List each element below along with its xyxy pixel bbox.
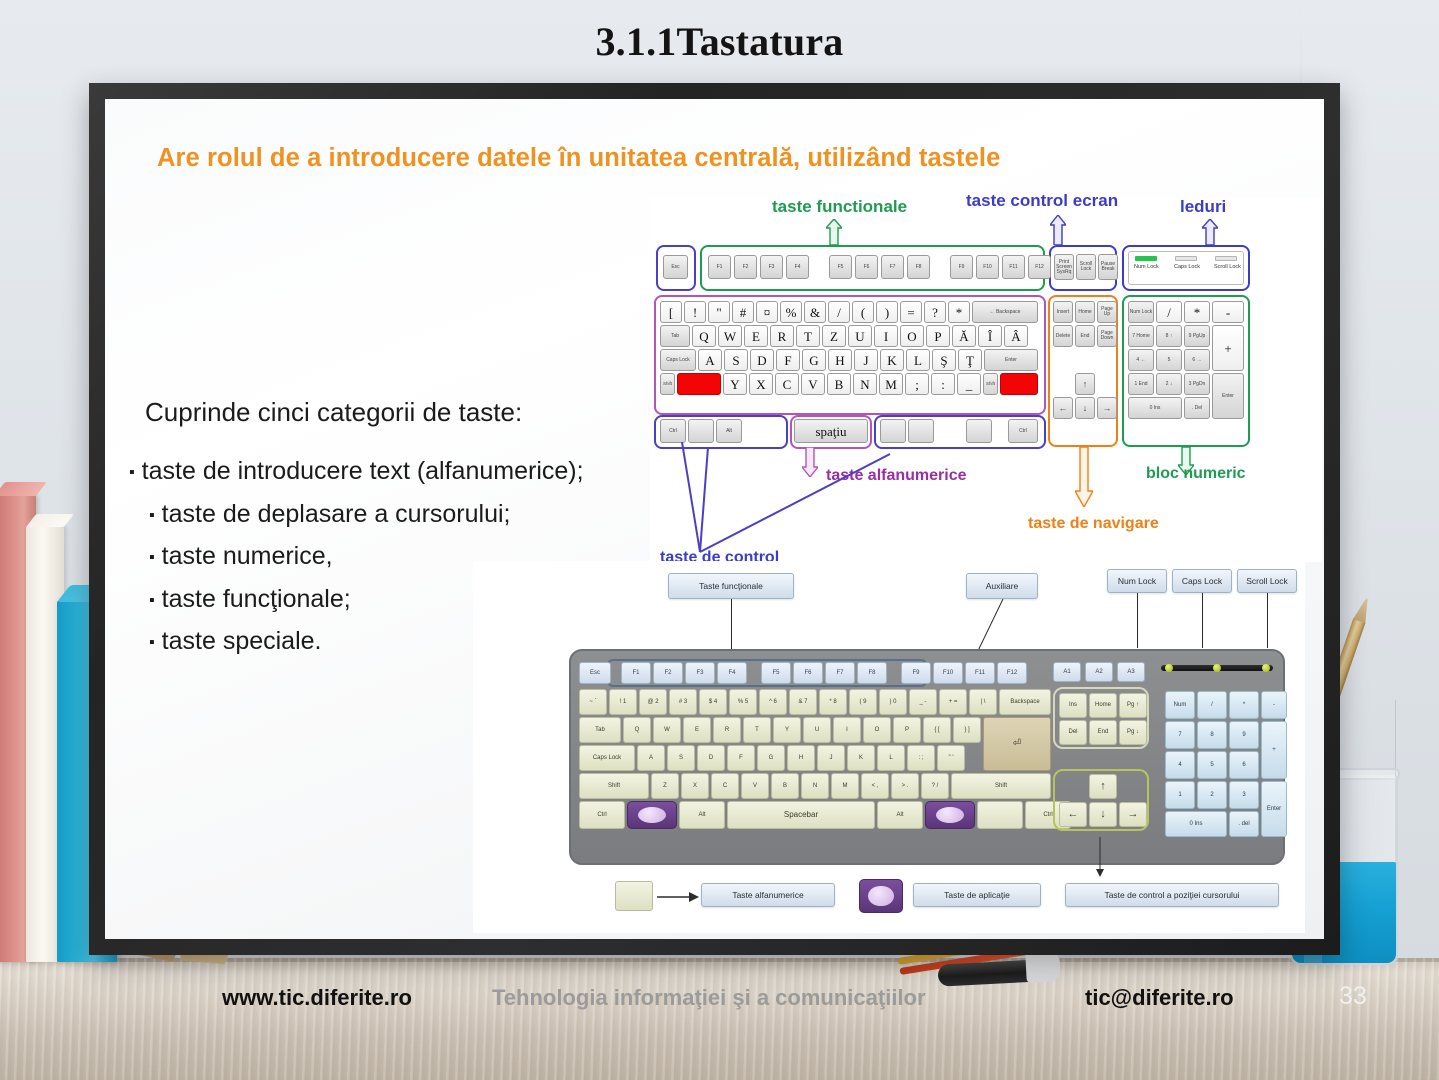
key-z[interactable]: Z xyxy=(822,325,846,347)
key-backslash[interactable]: | \ xyxy=(969,689,997,715)
key-l[interactable]: L xyxy=(906,349,930,371)
key-c[interactable]: C xyxy=(711,773,739,799)
key-f5[interactable]: F5 xyxy=(829,255,852,279)
lead-text: Cuprinde cinci categorii de taste: xyxy=(145,397,522,428)
list-item-label: taste de introducere text (alfanumerice)… xyxy=(142,457,584,485)
key-a-breve[interactable]: Ă xyxy=(952,325,976,347)
arrow-up-icon xyxy=(1050,215,1066,245)
key-alt-left[interactable]: Alt xyxy=(679,801,725,829)
key-minus[interactable]: _ - xyxy=(909,689,937,715)
key-arrow-right[interactable]: → xyxy=(1119,802,1147,827)
key-e[interactable]: E xyxy=(683,717,711,743)
key-2[interactable]: @ 2 xyxy=(639,689,667,715)
key-f2[interactable]: F2 xyxy=(734,255,757,279)
bullet-marker-icon: ▪ xyxy=(129,464,135,481)
key-num-7[interactable]: 7 xyxy=(1165,721,1195,749)
key-num-4[interactable]: 4 ← xyxy=(1128,349,1154,371)
key-semicolon[interactable]: : ; xyxy=(907,745,935,771)
key-caps-lock[interactable]: Caps Lock xyxy=(660,349,696,371)
key-shift-left[interactable]: Shift xyxy=(660,373,675,395)
key-num-decimal[interactable]: . Del xyxy=(1184,397,1210,419)
control-leader-lines xyxy=(650,442,1010,562)
arrow-up-icon xyxy=(826,219,842,245)
key-0[interactable]: ) 0 xyxy=(879,689,907,715)
key-6[interactable]: ^ 6 xyxy=(759,689,787,715)
key-caps-lock[interactable]: Caps Lock xyxy=(579,745,635,771)
key-w[interactable]: W xyxy=(718,325,742,347)
key-w[interactable]: W xyxy=(653,717,681,743)
key-f8[interactable]: F8 xyxy=(857,662,887,684)
key-9[interactable]: ( 9 xyxy=(849,689,877,715)
leader-line-cursor-control xyxy=(1095,837,1105,877)
key-d[interactable]: D xyxy=(750,349,774,371)
key-g[interactable]: G xyxy=(802,349,826,371)
list-item-label: taste speciale. xyxy=(162,627,322,655)
key-z[interactable]: Z xyxy=(651,773,679,799)
key-b[interactable]: B xyxy=(827,373,851,395)
arrow-up-icon xyxy=(1202,219,1218,245)
key-h[interactable]: H xyxy=(787,745,815,771)
key-x[interactable]: X xyxy=(681,773,709,799)
bullet-marker-icon: ▪ xyxy=(149,549,155,566)
key-s[interactable]: S xyxy=(667,745,695,771)
key-colon[interactable]: : xyxy=(931,373,955,395)
key-arrow-down[interactable]: ↓ xyxy=(1075,397,1095,419)
key-num-9[interactable]: 9 PgUp xyxy=(1184,325,1210,347)
key-comma[interactable]: < , xyxy=(861,773,889,799)
key-f6[interactable]: F6 xyxy=(855,255,878,279)
key-f12[interactable]: F12 xyxy=(1028,255,1051,279)
key-alt-right[interactable] xyxy=(880,419,906,443)
key-j[interactable]: J xyxy=(854,349,878,371)
key-a3[interactable]: A3 xyxy=(1117,662,1145,682)
key-space[interactable]: spaţiu xyxy=(794,419,868,443)
key-f7[interactable]: F7 xyxy=(881,255,904,279)
legend-label-alphanumeric[interactable]: Taste alfanumerice xyxy=(701,883,835,907)
bullet-marker-icon: ▪ xyxy=(149,634,155,651)
key-o[interactable]: O xyxy=(900,325,924,347)
led-label-num-lock: Num Lock xyxy=(1134,264,1168,271)
key-arrow-up[interactable]: ↑ xyxy=(1089,774,1117,799)
key-f3[interactable]: F3 xyxy=(760,255,783,279)
key-percent[interactable]: % xyxy=(780,301,802,323)
key-arrow-left[interactable]: ← xyxy=(1059,802,1087,827)
key-7[interactable]: & 7 xyxy=(789,689,817,715)
key-4[interactable]: $ 4 xyxy=(699,689,727,715)
key-n[interactable]: N xyxy=(853,373,877,395)
key-num-8[interactable]: 8 xyxy=(1197,721,1227,749)
key-t-comma[interactable]: Ţ xyxy=(958,349,982,371)
callout-caps-lock[interactable]: Caps Lock xyxy=(1172,569,1232,593)
key-f3[interactable]: F3 xyxy=(685,662,715,684)
key-home[interactable]: Home xyxy=(1075,301,1095,323)
key-bracket-close[interactable]: } ] xyxy=(953,717,981,743)
list-item: ▪taste de introducere text (alfanumerice… xyxy=(123,457,643,486)
bullet-marker-icon: ▪ xyxy=(149,592,155,609)
list-item-label: taste de deplasare a cursorului; xyxy=(162,500,511,528)
led-num-lock-indicator xyxy=(1165,664,1173,672)
key-win-left[interactable] xyxy=(688,419,714,443)
key-period[interactable]: > . xyxy=(891,773,919,799)
key-f10[interactable]: F10 xyxy=(933,662,963,684)
key-f4[interactable]: F4 xyxy=(786,255,809,279)
led-scroll-lock-indicator xyxy=(1262,664,1270,672)
key-page-down[interactable]: Pg ↓ xyxy=(1119,720,1147,745)
key-num-1[interactable]: 1 xyxy=(1165,781,1195,809)
page-title: 3.1.1Tastatura xyxy=(0,18,1439,65)
led-label-caps-lock: Caps Lock xyxy=(1174,264,1208,271)
key-shift-right[interactable]: Shift xyxy=(951,773,1051,799)
key-g[interactable]: G xyxy=(757,745,785,771)
key-num-0[interactable]: 0 Ins xyxy=(1128,397,1182,419)
label-taste-de-navigare: taste de navigare xyxy=(1028,515,1159,533)
key-page-down[interactable]: Page Down xyxy=(1097,325,1117,347)
key-ctrl-left[interactable]: Ctrl xyxy=(660,419,686,443)
key-menu[interactable] xyxy=(966,419,992,443)
led-label-scroll-lock: Scroll Lock xyxy=(1214,264,1244,271)
key-slash[interactable]: ? / xyxy=(921,773,949,799)
key-num-enter[interactable]: Enter xyxy=(1212,373,1244,419)
key-m[interactable]: M xyxy=(879,373,903,395)
footer-email[interactable]: tic@diferite.ro xyxy=(1085,985,1234,1011)
key-menu-key[interactable] xyxy=(977,801,1023,829)
list-item: ▪taste de deplasare a cursorului; xyxy=(123,500,643,529)
key-f9[interactable]: F9 xyxy=(901,662,931,684)
key-equals[interactable]: = xyxy=(900,301,922,323)
key-r[interactable]: R xyxy=(713,717,741,743)
key-numlock[interactable]: Num Lock xyxy=(1128,301,1154,323)
leader-line xyxy=(1202,593,1203,648)
key-home[interactable]: Home xyxy=(1089,693,1117,718)
key-ampersand[interactable]: & xyxy=(804,301,826,323)
slide-board: Are rolul de a introducere datele în uni… xyxy=(105,99,1324,939)
key-highlight-left[interactable] xyxy=(677,373,721,395)
key-num-9[interactable]: 9 xyxy=(1229,721,1259,749)
key-num-6[interactable]: 6 xyxy=(1229,751,1259,779)
callout-num-lock[interactable]: Num Lock xyxy=(1107,569,1167,593)
key-highlight-right[interactable] xyxy=(1000,373,1038,395)
key-num-7[interactable]: 7 Home xyxy=(1128,325,1154,347)
key-n[interactable]: N xyxy=(801,773,829,799)
key-del[interactable]: Del xyxy=(1059,720,1087,745)
key-f6[interactable]: F6 xyxy=(793,662,823,684)
leader-line xyxy=(1137,593,1138,648)
key-num-multiply[interactable]: * xyxy=(1229,691,1259,719)
key-num-3[interactable]: 3 xyxy=(1229,781,1259,809)
key-shift-right[interactable]: Shift xyxy=(983,373,998,395)
footer-website[interactable]: www.tic.diferite.ro xyxy=(222,985,412,1011)
key-k[interactable]: K xyxy=(880,349,904,371)
key-num-3[interactable]: 3 PgDn xyxy=(1184,373,1210,395)
label-taste-control-ecran: taste control ecran xyxy=(966,191,1118,211)
key-f9[interactable]: F9 xyxy=(950,255,973,279)
key-1[interactable]: ! 1 xyxy=(609,689,637,715)
list-item-label: taste funcţionale; xyxy=(162,585,351,613)
key-t[interactable]: T xyxy=(796,325,820,347)
key-enter[interactable]: Enter xyxy=(984,349,1038,371)
led-caps-lock-indicator xyxy=(1213,664,1221,672)
footer: www.tic.diferite.ro Tehnologia informaţi… xyxy=(0,985,1439,1025)
key-arrow-right[interactable]: → xyxy=(1097,397,1117,419)
key-8[interactable]: * 8 xyxy=(819,689,847,715)
key-bracket[interactable]: [ xyxy=(660,301,682,323)
label-taste-functionale: taste functionale xyxy=(772,197,907,217)
key-slash[interactable]: / xyxy=(828,301,850,323)
legend-label-application[interactable]: Taste de aplicaţie xyxy=(913,883,1041,907)
key-alt-left[interactable]: Alt xyxy=(716,419,742,443)
key-h[interactable]: H xyxy=(828,349,852,371)
key-f8[interactable]: F8 xyxy=(907,255,930,279)
key-print-screen[interactable]: Print Screen SysRq xyxy=(1054,254,1074,280)
key-i[interactable]: I xyxy=(833,717,861,743)
key-tilde[interactable]: ~ ` xyxy=(579,689,607,715)
key-a1[interactable]: A1 xyxy=(1053,662,1081,682)
key-shift-left[interactable]: Shift xyxy=(579,773,649,799)
key-tab[interactable]: Tab xyxy=(579,717,621,743)
key-num-1[interactable]: 1 End xyxy=(1128,373,1154,395)
diagram-labelled-keyboard: Taste funcţionale Auxiliare Num Lock Cap… xyxy=(473,561,1305,933)
key-insert[interactable]: Insert xyxy=(1053,301,1073,323)
key-num-enter[interactable]: Enter xyxy=(1261,781,1287,837)
key-page-up[interactable]: Pg ↑ xyxy=(1119,693,1147,718)
key-s[interactable]: S xyxy=(724,349,748,371)
key-f11[interactable]: F11 xyxy=(1002,255,1025,279)
key-f5[interactable]: F5 xyxy=(761,662,791,684)
key-paren-open[interactable]: ( xyxy=(852,301,874,323)
key-a[interactable]: A xyxy=(698,349,722,371)
key-arrow-down[interactable]: ↓ xyxy=(1089,802,1117,827)
key-page-up[interactable]: Page Up xyxy=(1097,301,1117,323)
key-arrow-left[interactable]: ← xyxy=(1053,397,1073,419)
key-num-5[interactable]: 5 xyxy=(1197,751,1227,779)
key-u[interactable]: U xyxy=(803,717,831,743)
key-currency[interactable]: ¤ xyxy=(756,301,778,323)
key-underscore[interactable]: _ xyxy=(957,373,981,395)
key-spacebar[interactable]: Spacebar xyxy=(727,801,875,829)
key-j[interactable]: J xyxy=(817,745,845,771)
key-num-plus[interactable]: + xyxy=(1212,325,1244,371)
leader-line xyxy=(1267,593,1268,648)
key-p[interactable]: P xyxy=(893,717,921,743)
key-num-8[interactable]: 8 ↑ xyxy=(1156,325,1182,347)
key-num-decimal[interactable]: . del xyxy=(1229,811,1259,837)
arrow-down-icon xyxy=(1075,447,1093,507)
key-num-divide[interactable]: / xyxy=(1156,301,1182,323)
key-f7[interactable]: F7 xyxy=(825,662,855,684)
key-3[interactable]: # 3 xyxy=(669,689,697,715)
callout-taste-functionale[interactable]: Taste funcţionale xyxy=(668,573,794,599)
key-f2[interactable]: F2 xyxy=(653,662,683,684)
key-num-4[interactable]: 4 xyxy=(1165,751,1195,779)
key-y[interactable]: Y xyxy=(723,373,747,395)
key-application-right[interactable] xyxy=(925,801,975,829)
key-f1[interactable]: F1 xyxy=(621,662,651,684)
key-y[interactable]: Y xyxy=(773,717,801,743)
key-equals[interactable]: + = xyxy=(939,689,967,715)
key-num-divide[interactable]: / xyxy=(1197,691,1227,719)
footer-subject: Tehnologia informaţiei şi a comunicaţiil… xyxy=(492,985,926,1011)
key-arrow-up[interactable]: ↑ xyxy=(1075,373,1095,395)
key-c[interactable]: C xyxy=(775,373,799,395)
key-num-2[interactable]: 2 ↓ xyxy=(1156,373,1182,395)
key-num-plus[interactable]: + xyxy=(1261,721,1287,779)
key-esc[interactable]: Esc xyxy=(663,255,688,279)
arrow-right-icon xyxy=(657,891,699,903)
key-5[interactable]: % 5 xyxy=(729,689,757,715)
key-u[interactable]: U xyxy=(848,325,872,347)
key-end[interactable]: End xyxy=(1089,720,1117,745)
key-numlock[interactable]: Num xyxy=(1165,691,1195,719)
key-delete[interactable]: Delete xyxy=(1053,325,1073,347)
callout-auxiliare[interactable]: Auxiliare xyxy=(966,573,1038,599)
key-f[interactable]: F xyxy=(727,745,755,771)
legend-swatch-alphanumeric xyxy=(615,881,653,911)
leader-line xyxy=(731,599,732,649)
key-tab[interactable]: Tab xyxy=(660,325,690,347)
key-num-minus[interactable]: - xyxy=(1212,301,1244,323)
key-num-5[interactable]: 5 xyxy=(1156,349,1182,371)
key-f12[interactable]: F12 xyxy=(997,662,1027,684)
key-alt-right[interactable]: Alt xyxy=(877,801,923,829)
key-scroll-lock[interactable]: Scroll Lock xyxy=(1076,254,1096,280)
key-pause-break[interactable]: Pause Break xyxy=(1098,254,1118,280)
key-s-comma[interactable]: Ş xyxy=(932,349,956,371)
label-leduri: leduri xyxy=(1180,197,1226,217)
key-e[interactable]: E xyxy=(744,325,768,347)
label-bloc-numeric: bloc numeric xyxy=(1146,465,1246,483)
picture-frame: Are rolul de a introducere datele în uni… xyxy=(89,83,1340,955)
page-number: 33 xyxy=(1339,982,1367,1011)
key-x[interactable]: X xyxy=(749,373,773,395)
key-bracket-open[interactable]: { [ xyxy=(923,717,951,743)
key-a[interactable]: A xyxy=(637,745,665,771)
headline-text: Are rolul de a introducere datele în uni… xyxy=(157,144,1267,173)
key-t[interactable]: T xyxy=(743,717,771,743)
key-d[interactable]: D xyxy=(697,745,725,771)
key-f[interactable]: F xyxy=(776,349,800,371)
key-i[interactable]: I xyxy=(874,325,898,347)
key-l[interactable]: L xyxy=(877,745,905,771)
key-apostrophe[interactable]: " ' xyxy=(937,745,965,771)
key-b[interactable]: B xyxy=(771,773,799,799)
key-k[interactable]: K xyxy=(847,745,875,771)
key-v[interactable]: V xyxy=(741,773,769,799)
key-num-0[interactable]: 0 Ins xyxy=(1165,811,1227,837)
key-num-6[interactable]: 6 → xyxy=(1184,349,1210,371)
key-backspace[interactable]: ← Backspace xyxy=(972,301,1038,323)
legend-swatch-application xyxy=(859,879,903,913)
key-p[interactable]: P xyxy=(926,325,950,347)
key-m[interactable]: M xyxy=(831,773,859,799)
key-r[interactable]: R xyxy=(770,325,794,347)
callout-scroll-lock[interactable]: Scroll Lock xyxy=(1237,569,1297,593)
key-q[interactable]: Q xyxy=(692,325,716,347)
key-i-circumflex[interactable]: Î xyxy=(978,325,1002,347)
key-a2[interactable]: A2 xyxy=(1085,662,1113,682)
key-quote[interactable]: " xyxy=(708,301,730,323)
key-q[interactable]: Q xyxy=(623,717,651,743)
list-item-label: taste numerice, xyxy=(162,542,333,570)
key-question[interactable]: ? xyxy=(924,301,946,323)
key-num-2[interactable]: 2 xyxy=(1197,781,1227,809)
key-asterisk[interactable]: * xyxy=(948,301,970,323)
key-exclam[interactable]: ! xyxy=(684,301,706,323)
key-a-circumflex[interactable]: Â xyxy=(1004,325,1028,347)
key-win-right[interactable] xyxy=(908,419,934,443)
marker-cap xyxy=(1025,951,1061,983)
key-hash[interactable]: # xyxy=(732,301,754,323)
key-paren-close[interactable]: ) xyxy=(876,301,898,323)
diagram-romanian-keyboard: taste functionale taste control ecran le… xyxy=(650,197,1322,562)
key-num-minus[interactable]: - xyxy=(1261,691,1287,719)
key-application-left[interactable] xyxy=(627,801,677,829)
key-ctrl-left[interactable]: Ctrl xyxy=(579,801,625,829)
key-num-multiply[interactable]: * xyxy=(1184,301,1210,323)
key-end[interactable]: End xyxy=(1075,325,1095,347)
key-esc[interactable]: Esc xyxy=(579,662,611,684)
key-backspace[interactable]: Backspace xyxy=(999,689,1051,715)
key-enter[interactable]: ⏎ xyxy=(983,717,1051,771)
key-f1[interactable]: F1 xyxy=(708,255,731,279)
key-f4[interactable]: F4 xyxy=(717,662,747,684)
bullet-marker-icon: ▪ xyxy=(149,507,155,524)
key-ctrl-right[interactable]: Ctrl xyxy=(1008,419,1038,443)
key-o[interactable]: O xyxy=(863,717,891,743)
key-v[interactable]: V xyxy=(801,373,825,395)
key-f11[interactable]: F11 xyxy=(965,662,995,684)
led-panel: Num Lock Caps Lock Scroll Lock xyxy=(1128,251,1244,285)
key-semicolon[interactable]: ; xyxy=(905,373,929,395)
key-f10[interactable]: F10 xyxy=(976,255,999,279)
legend-label-cursor-control[interactable]: Taste de control a poziţiei cursorului xyxy=(1065,883,1279,907)
key-ins[interactable]: Ins xyxy=(1059,693,1087,718)
